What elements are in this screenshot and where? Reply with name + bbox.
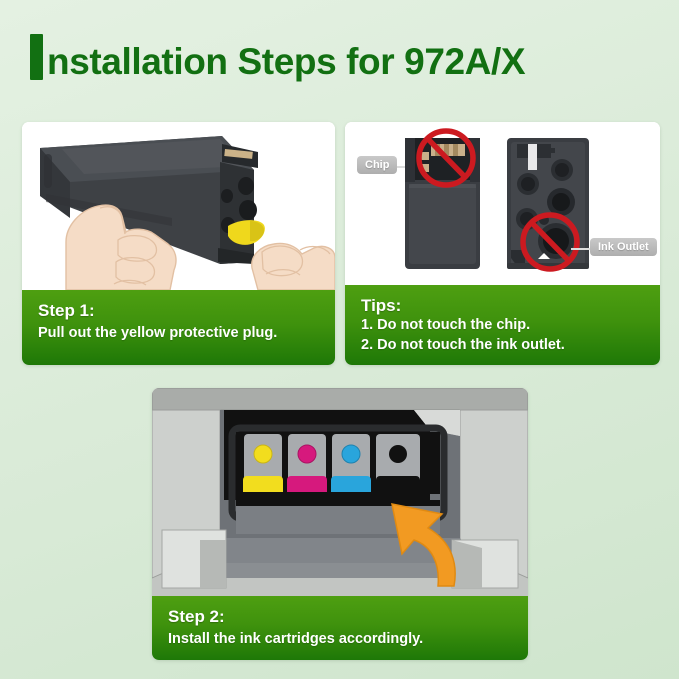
title-initial-bar <box>30 34 43 80</box>
tips-caption-bar: Tips: 1. Do not touch the chip. 2. Do no… <box>345 285 660 365</box>
printer-bay-svg <box>152 388 528 596</box>
ink-outlet-label-tag: Ink Outlet <box>590 238 657 256</box>
tips-card: Chip Ink Outlet Tips: 1. Do not touch th… <box>345 122 660 365</box>
yellow-cartridge-slot <box>243 434 283 492</box>
step-2-label: Step 2: <box>168 607 512 627</box>
page-title: nstallation Steps for 972A/X <box>30 34 525 82</box>
step-1-card: Step 1: Pull out the yellow protective p… <box>22 122 335 365</box>
step-1-label: Step 1: <box>38 301 319 321</box>
page-title-text: nstallation Steps for 972A/X <box>47 42 525 82</box>
magenta-cartridge-slot <box>287 434 327 492</box>
step-2-caption-bar: Step 2: Install the ink cartridges accor… <box>152 596 528 660</box>
step-1-caption-bar: Step 1: Pull out the yellow protective p… <box>22 290 335 365</box>
black-cartridge-slot <box>376 434 420 492</box>
chip-and-ink-outlet-svg <box>345 122 660 285</box>
step-2-illustration <box>152 388 528 596</box>
step-2-description: Install the ink cartridges accordingly. <box>168 630 512 649</box>
step-1-illustration <box>22 122 335 290</box>
chip-label-tag: Chip <box>357 156 397 174</box>
tip-item-2: 2. Do not touch the ink outlet. <box>361 336 644 356</box>
ink-outlet-port <box>538 223 574 259</box>
tip-item-1: 1. Do not touch the chip. <box>361 316 644 336</box>
step-2-card: Step 2: Install the ink cartridges accor… <box>152 388 528 660</box>
cartridge-hands-svg <box>22 122 335 290</box>
tips-label: Tips: <box>361 296 644 316</box>
step-1-description: Pull out the yellow protective plug. <box>38 324 319 343</box>
tips-illustration: Chip Ink Outlet <box>345 122 660 285</box>
right-hand-illustration <box>252 243 335 290</box>
installation-guide-page: nstallation Steps for 972A/X <box>0 0 679 679</box>
cyan-cartridge-slot <box>331 434 371 492</box>
